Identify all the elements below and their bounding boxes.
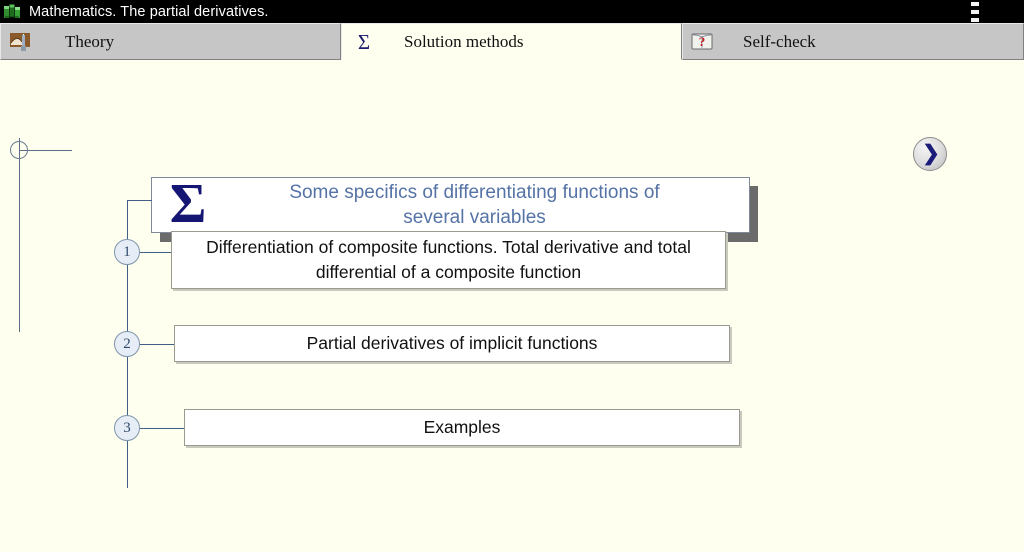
tree-branch-item-3 bbox=[140, 428, 185, 429]
sigma-icon: Σ bbox=[158, 178, 218, 230]
page-title: Some specifics of differentiating functi… bbox=[218, 180, 749, 230]
vertical-menu-icon[interactable] bbox=[970, 2, 980, 22]
list-item-2[interactable]: Partial derivatives of implicit function… bbox=[174, 325, 730, 362]
crosshair-icon bbox=[10, 141, 28, 159]
page-title-line-2: several variables bbox=[218, 205, 731, 230]
item-number-2: 2 bbox=[114, 331, 140, 357]
book-question-icon: ? bbox=[691, 31, 713, 53]
item-number-3: 3 bbox=[114, 415, 140, 441]
svg-text:?: ? bbox=[699, 34, 706, 49]
tab-self-check-label: Self-check bbox=[743, 32, 816, 52]
tab-solution-methods[interactable]: Σ Solution methods bbox=[341, 23, 682, 60]
page-title-line-1: Some specifics of differentiating functi… bbox=[218, 180, 731, 205]
slide-canvas: ❯ Σ Some specifics of differentiating fu… bbox=[0, 60, 1024, 552]
tree-branch-item-1 bbox=[140, 252, 172, 253]
sigma-icon: Σ bbox=[353, 31, 375, 53]
green-blocks-icon bbox=[3, 3, 21, 21]
item-number-1-label: 1 bbox=[123, 244, 131, 261]
tree-branch-item-2 bbox=[140, 344, 175, 345]
title-bar: Mathematics. The partial derivatives. bbox=[0, 0, 1024, 23]
tab-bar: Theory Σ Solution methods ? Self-check bbox=[0, 23, 1024, 60]
chevron-right-icon: ❯ bbox=[922, 143, 940, 164]
item-number-3-label: 3 bbox=[123, 420, 131, 437]
item-number-1: 1 bbox=[114, 239, 140, 265]
tree-branch-header bbox=[127, 200, 152, 201]
tab-solution-methods-label: Solution methods bbox=[404, 32, 523, 52]
list-item-1[interactable]: Differentiation of composite functions. … bbox=[171, 231, 726, 289]
application-window: Mathematics. The partial derivatives. Th… bbox=[0, 0, 1024, 552]
decorative-vertical-rule bbox=[19, 138, 20, 332]
tab-theory[interactable]: Theory bbox=[0, 23, 341, 60]
list-item-3[interactable]: Examples bbox=[184, 409, 740, 446]
tab-theory-label: Theory bbox=[65, 32, 114, 52]
tab-self-check[interactable]: ? Self-check bbox=[682, 23, 1024, 60]
item-number-2-label: 2 bbox=[123, 336, 131, 353]
header-panel: Σ Some specifics of differentiating func… bbox=[151, 177, 750, 233]
next-page-button[interactable]: ❯ bbox=[913, 137, 947, 171]
window-title: Mathematics. The partial derivatives. bbox=[29, 4, 269, 20]
book-stand-icon bbox=[9, 31, 31, 53]
